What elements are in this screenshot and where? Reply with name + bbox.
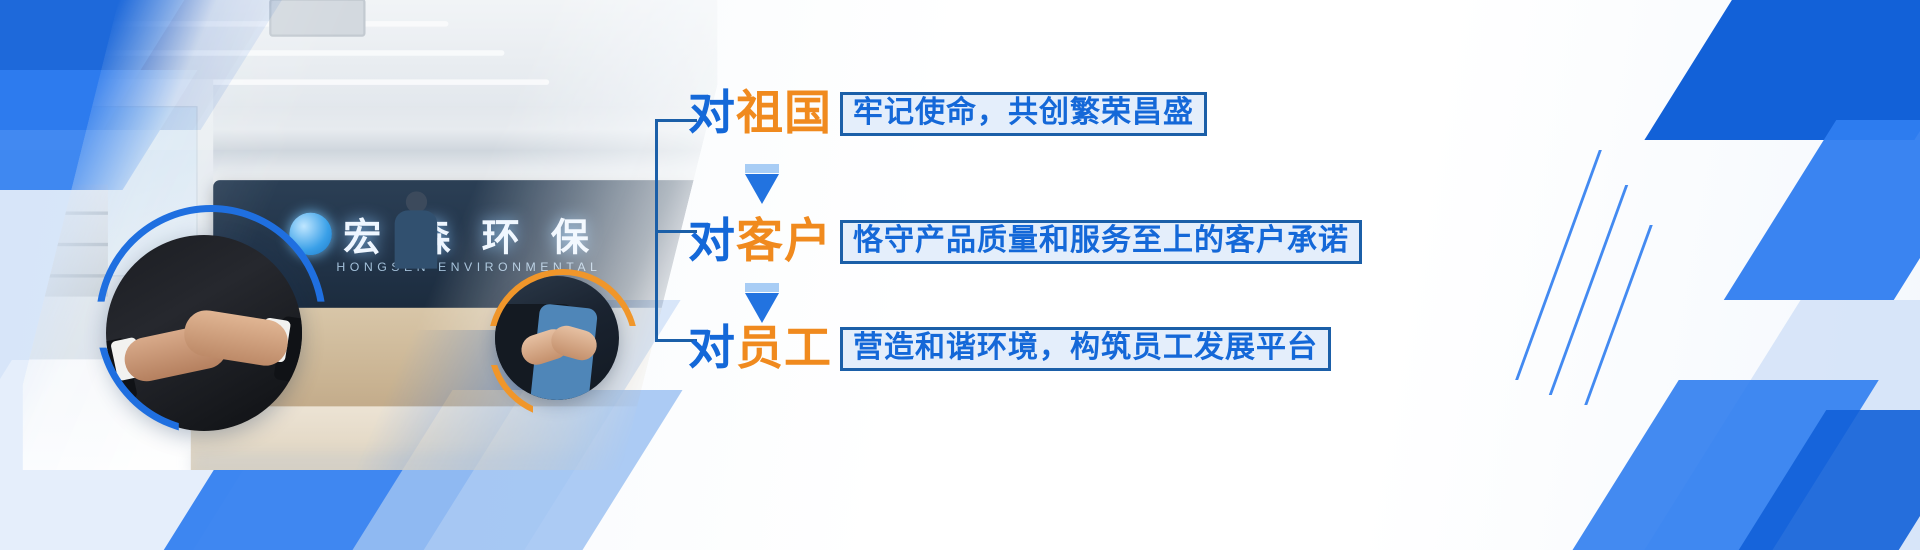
value-keyword-country: 对祖国	[688, 90, 832, 137]
value-tag-box-employee: 营造和谐环境，构筑员工发展平台	[840, 327, 1331, 371]
value-subject: 客户	[736, 214, 832, 269]
value-tag-box-country: 牢记使命，共创繁荣昌盛	[840, 92, 1207, 136]
value-tag-text: 恪守产品质量和服务至上的客户承诺	[853, 226, 1349, 256]
value-subject: 祖国	[736, 86, 832, 141]
value-prefix: 对	[688, 86, 736, 141]
company-values-banner: 宏 森 环 保 HONGSEN ENVIRONMENTAL	[0, 0, 1920, 550]
value-subject: 员工	[736, 321, 832, 376]
value-keyword-employee: 对员工	[688, 325, 832, 372]
value-tag-text: 营造和谐环境，构筑员工发展平台	[853, 333, 1318, 363]
value-row-employee: 对员工 营造和谐环境，构筑员工发展平台	[688, 325, 1331, 372]
value-tag-box-customer: 恪守产品质量和服务至上的客户承诺	[840, 220, 1362, 264]
value-tag-text: 牢记使命，共创繁荣昌盛	[853, 98, 1194, 128]
value-prefix: 对	[688, 214, 736, 269]
value-row-country: 对祖国 牢记使命，共创繁荣昌盛	[688, 90, 1207, 137]
value-keyword-customer: 对客户	[688, 218, 832, 265]
value-prefix: 对	[688, 321, 736, 376]
value-row-customer: 对客户 恪守产品质量和服务至上的客户承诺	[688, 218, 1362, 265]
